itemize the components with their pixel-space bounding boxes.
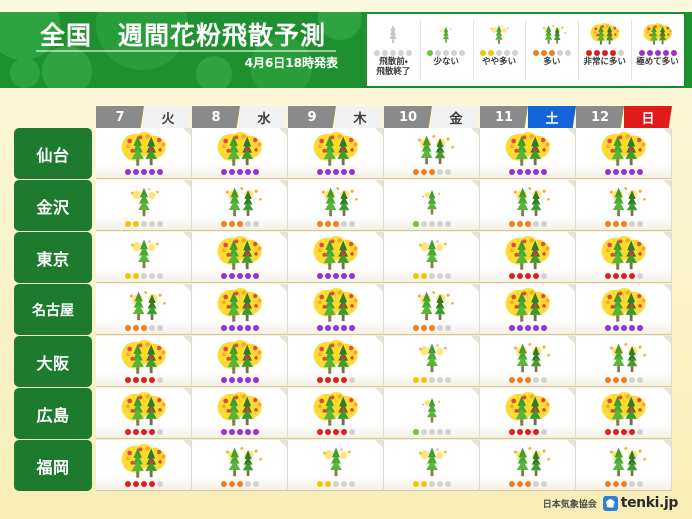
forecast-level-dots bbox=[221, 325, 259, 331]
pollen-art bbox=[288, 390, 383, 426]
pollen-tree-art-level-5 bbox=[635, 20, 681, 48]
forecast-level-dots bbox=[221, 221, 259, 227]
forecast-cell[interactable] bbox=[96, 232, 192, 283]
level-dot bbox=[317, 169, 323, 175]
level-dot bbox=[437, 481, 443, 487]
level-dot bbox=[253, 273, 259, 279]
row-cells bbox=[96, 128, 678, 179]
forecast-cell[interactable] bbox=[576, 232, 672, 283]
level-dot bbox=[610, 50, 616, 56]
pollen-art bbox=[288, 286, 383, 322]
legend-label: 少ない bbox=[433, 58, 459, 68]
day-header-11: 11土 bbox=[480, 106, 576, 128]
legend-item-5: 極めて多い bbox=[631, 14, 684, 86]
row-cells bbox=[96, 388, 678, 439]
legend-art bbox=[476, 18, 522, 48]
legend-item-2: やや多い bbox=[473, 14, 526, 86]
pollen-art bbox=[384, 286, 479, 322]
level-dot bbox=[133, 221, 139, 227]
level-dot bbox=[621, 169, 627, 175]
forecast-level-dots bbox=[125, 481, 163, 487]
pollen-art bbox=[480, 286, 575, 322]
legend-level-dots bbox=[374, 50, 412, 56]
level-dot bbox=[621, 221, 627, 227]
level-dot bbox=[445, 221, 451, 227]
level-dot bbox=[317, 377, 323, 383]
forecast-level-dots bbox=[125, 325, 163, 331]
pollen-art bbox=[480, 338, 575, 374]
pollen-art bbox=[192, 390, 287, 426]
level-dot bbox=[141, 377, 147, 383]
level-dot bbox=[157, 429, 163, 435]
day-header-10: 10金 bbox=[384, 106, 480, 128]
level-dot bbox=[637, 221, 643, 227]
forecast-cell[interactable] bbox=[96, 388, 192, 439]
level-dot bbox=[229, 481, 235, 487]
forecast-level-dots bbox=[605, 169, 643, 175]
forecast-cell[interactable] bbox=[192, 180, 288, 231]
level-dot bbox=[629, 377, 635, 383]
forecast-cell[interactable] bbox=[96, 128, 192, 179]
level-dot bbox=[141, 169, 147, 175]
level-dot bbox=[237, 377, 243, 383]
level-dot bbox=[141, 221, 147, 227]
level-dot bbox=[349, 273, 355, 279]
level-dot bbox=[237, 429, 243, 435]
row-cells bbox=[96, 440, 678, 491]
level-dot bbox=[221, 221, 227, 227]
legend-dots bbox=[480, 50, 518, 56]
forecast-cell[interactable] bbox=[576, 440, 672, 491]
pollen-tree-art-level-2 bbox=[108, 236, 180, 270]
pollen-art bbox=[576, 286, 671, 322]
level-dot bbox=[629, 169, 635, 175]
legend-art bbox=[529, 18, 575, 48]
forecast-level-dots bbox=[221, 169, 259, 175]
level-dot bbox=[253, 221, 259, 227]
level-dot bbox=[541, 273, 547, 279]
pollen-forecast-page: 全国 週間花粉飛散予測 4月6日18時発表 飛散前・ 飛散終了少ないやや多い多い… bbox=[0, 0, 692, 519]
level-dot bbox=[488, 50, 494, 56]
pollen-tree-art-level-5 bbox=[108, 132, 180, 166]
forecast-level-dots bbox=[125, 221, 163, 227]
level-dot bbox=[221, 169, 227, 175]
pollen-art bbox=[576, 390, 671, 426]
pollen-tree-art-level-3 bbox=[588, 444, 660, 478]
level-dot bbox=[413, 429, 419, 435]
level-dot bbox=[125, 169, 131, 175]
level-dot bbox=[141, 325, 147, 331]
legend-dots bbox=[427, 50, 465, 56]
level-dot bbox=[637, 325, 643, 331]
level-dot bbox=[594, 50, 600, 56]
level-dot bbox=[349, 221, 355, 227]
level-dot bbox=[149, 377, 155, 383]
forecast-cell[interactable] bbox=[192, 440, 288, 491]
pollen-tree-art-level-5 bbox=[588, 288, 660, 322]
forecast-cell[interactable] bbox=[192, 284, 288, 335]
level-dot bbox=[613, 221, 619, 227]
pollen-art bbox=[480, 182, 575, 218]
level-dot bbox=[427, 50, 433, 56]
forecast-cell[interactable] bbox=[192, 232, 288, 283]
pollen-tree-art-level-3 bbox=[492, 340, 564, 374]
level-dot bbox=[629, 273, 635, 279]
forecast-level-dots bbox=[221, 377, 259, 383]
level-dot bbox=[317, 481, 323, 487]
level-dot bbox=[325, 273, 331, 279]
table-row: 大阪 bbox=[14, 336, 678, 387]
day-weekday: 水 bbox=[240, 106, 288, 128]
level-dot bbox=[333, 377, 339, 383]
level-dot bbox=[437, 325, 443, 331]
level-dot bbox=[421, 377, 427, 383]
forecast-level-dots bbox=[125, 377, 163, 383]
level-dot bbox=[341, 481, 347, 487]
level-dot bbox=[525, 273, 531, 279]
forecast-cell[interactable] bbox=[288, 180, 384, 231]
pollen-art bbox=[192, 234, 287, 270]
level-dot bbox=[671, 50, 677, 56]
level-dot bbox=[437, 273, 443, 279]
pollen-tree-art-level-3 bbox=[204, 444, 276, 478]
level-dot bbox=[533, 221, 539, 227]
forecast-cell[interactable] bbox=[576, 388, 672, 439]
forecast-cell[interactable] bbox=[384, 440, 480, 491]
level-dot bbox=[237, 169, 243, 175]
level-dot bbox=[586, 50, 592, 56]
city-label-広島[interactable]: 広島 bbox=[14, 388, 92, 439]
day-weekday: 土 bbox=[528, 106, 576, 128]
legend-label: 飛散前・ 飛散終了 bbox=[376, 58, 410, 78]
forecast-cell[interactable] bbox=[96, 180, 192, 231]
forecast-cell[interactable] bbox=[288, 388, 384, 439]
level-dot bbox=[141, 273, 147, 279]
day-weekday: 木 bbox=[336, 106, 384, 128]
level-dot bbox=[141, 429, 147, 435]
legend-dots bbox=[533, 50, 571, 56]
level-dot bbox=[413, 481, 419, 487]
level-dot bbox=[525, 377, 531, 383]
pollen-tree-art-level-4 bbox=[588, 392, 660, 426]
pollen-tree-art-level-4 bbox=[588, 236, 660, 270]
pollen-tree-art-level-2 bbox=[476, 20, 522, 48]
forecast-level-dots bbox=[221, 273, 259, 279]
level-dot bbox=[435, 50, 441, 56]
forecast-cell[interactable] bbox=[288, 440, 384, 491]
level-dot bbox=[637, 429, 643, 435]
level-dot bbox=[445, 273, 451, 279]
level-dot bbox=[637, 169, 643, 175]
pollen-tree-art-level-5 bbox=[300, 288, 372, 322]
pollen-tree-art-level-5 bbox=[204, 132, 276, 166]
page-title: 全国 週間花粉飛散予測 bbox=[40, 16, 326, 52]
forecast-cell[interactable] bbox=[288, 284, 384, 335]
forecast-level-dots bbox=[509, 169, 547, 175]
level-dot bbox=[504, 50, 510, 56]
pollen-tree-art-level-3 bbox=[492, 184, 564, 218]
forecast-cell[interactable] bbox=[288, 336, 384, 387]
level-dot bbox=[445, 481, 451, 487]
level-dot bbox=[621, 377, 627, 383]
level-dot bbox=[253, 429, 259, 435]
level-dot bbox=[413, 325, 419, 331]
level-dot bbox=[229, 221, 235, 227]
level-dot bbox=[517, 377, 523, 383]
level-dot bbox=[149, 429, 155, 435]
level-dot bbox=[245, 169, 251, 175]
level-dot bbox=[149, 221, 155, 227]
pollen-art bbox=[192, 286, 287, 322]
level-dot bbox=[663, 50, 669, 56]
legend-art bbox=[635, 18, 681, 48]
legend-label: やや多い bbox=[482, 58, 516, 68]
level-dot bbox=[647, 50, 653, 56]
level-dot bbox=[429, 481, 435, 487]
level-dot bbox=[157, 273, 163, 279]
pollen-tree-art-level-4 bbox=[108, 392, 180, 426]
city-label-大阪[interactable]: 大阪 bbox=[14, 336, 92, 387]
level-dot bbox=[605, 429, 611, 435]
forecast-rows: 仙台金沢東京名古屋大阪広島福岡 bbox=[14, 128, 678, 491]
level-dot bbox=[613, 429, 619, 435]
day-header-9: 9木 bbox=[288, 106, 384, 128]
forecast-cell[interactable] bbox=[480, 284, 576, 335]
forecast-level-dots bbox=[413, 221, 451, 227]
level-dot bbox=[541, 377, 547, 383]
level-dot bbox=[341, 325, 347, 331]
level-dot bbox=[509, 169, 515, 175]
pollen-tree-art-level-2 bbox=[396, 236, 468, 270]
level-dot bbox=[133, 429, 139, 435]
level-dot bbox=[525, 325, 531, 331]
pollen-art bbox=[480, 234, 575, 270]
level-dot bbox=[325, 429, 331, 435]
forecast-cell[interactable] bbox=[384, 232, 480, 283]
level-dot bbox=[229, 273, 235, 279]
forecast-cell[interactable] bbox=[576, 284, 672, 335]
level-dot bbox=[413, 273, 419, 279]
city-label-福岡[interactable]: 福岡 bbox=[14, 440, 92, 491]
level-dot bbox=[125, 273, 131, 279]
level-dot bbox=[445, 377, 451, 383]
level-dot bbox=[525, 169, 531, 175]
pollen-tree-art-level-2 bbox=[300, 444, 372, 478]
level-dot bbox=[517, 221, 523, 227]
level-dot bbox=[557, 50, 563, 56]
level-dot bbox=[655, 50, 661, 56]
level-dot bbox=[325, 377, 331, 383]
forecast-level-dots bbox=[317, 273, 355, 279]
level-dot bbox=[541, 325, 547, 331]
forecast-cell[interactable] bbox=[384, 336, 480, 387]
pollen-tree-art-level-5 bbox=[588, 132, 660, 166]
level-dot bbox=[390, 50, 396, 56]
forecast-cell[interactable] bbox=[480, 336, 576, 387]
forecast-cell[interactable] bbox=[576, 128, 672, 179]
level-dot bbox=[517, 481, 523, 487]
level-dot bbox=[221, 325, 227, 331]
forecast-level-dots bbox=[605, 273, 643, 279]
forecast-cell[interactable] bbox=[288, 232, 384, 283]
level-dot bbox=[496, 50, 502, 56]
level-dot bbox=[221, 429, 227, 435]
table-row: 金沢 bbox=[14, 180, 678, 231]
level-dot bbox=[605, 325, 611, 331]
city-label-東京[interactable]: 東京 bbox=[14, 232, 92, 283]
pollen-art bbox=[288, 338, 383, 374]
forecast-cell[interactable] bbox=[96, 336, 192, 387]
pollen-art bbox=[384, 130, 479, 166]
pollen-tree-art-level-5 bbox=[204, 288, 276, 322]
pollen-tree-art-level-3 bbox=[204, 184, 276, 218]
forecast-cell[interactable] bbox=[576, 336, 672, 387]
level-dot bbox=[509, 221, 515, 227]
level-dot bbox=[565, 50, 571, 56]
level-dot bbox=[157, 221, 163, 227]
forecast-level-dots bbox=[605, 325, 643, 331]
forecast-level-dots bbox=[413, 377, 451, 383]
forecast-cell[interactable] bbox=[384, 388, 480, 439]
legend: 飛散前・ 飛散終了少ないやや多い多い非常に多い極めて多い bbox=[362, 14, 684, 86]
forecast-cell[interactable] bbox=[288, 128, 384, 179]
city-label-仙台[interactable]: 仙台 bbox=[14, 128, 92, 179]
row-cells bbox=[96, 336, 678, 387]
forecast-cell[interactable] bbox=[192, 336, 288, 387]
forecast-level-dots bbox=[125, 429, 163, 435]
issued-timestamp: 4月6日18時発表 bbox=[36, 54, 338, 71]
city-label-金沢[interactable]: 金沢 bbox=[14, 180, 92, 231]
level-dot bbox=[525, 221, 531, 227]
level-dot bbox=[341, 221, 347, 227]
pollen-art bbox=[96, 234, 191, 270]
level-dot bbox=[125, 325, 131, 331]
table-row: 広島 bbox=[14, 388, 678, 439]
level-dot bbox=[245, 273, 251, 279]
level-dot bbox=[253, 377, 259, 383]
level-dot bbox=[398, 50, 404, 56]
level-dot bbox=[333, 325, 339, 331]
level-dot bbox=[525, 481, 531, 487]
pollen-art bbox=[576, 234, 671, 270]
pollen-art bbox=[96, 390, 191, 426]
pollen-art bbox=[384, 182, 479, 218]
level-dot bbox=[245, 429, 251, 435]
legend-item-1: 少ない bbox=[420, 14, 473, 86]
level-dot bbox=[229, 429, 235, 435]
level-dot bbox=[245, 221, 251, 227]
pollen-art bbox=[192, 182, 287, 218]
pollen-art bbox=[96, 338, 191, 374]
level-dot bbox=[437, 429, 443, 435]
pollen-tree-art-level-1 bbox=[396, 184, 468, 218]
pollen-tree-art-level-5 bbox=[492, 132, 564, 166]
level-dot bbox=[229, 169, 235, 175]
level-dot bbox=[125, 221, 131, 227]
level-dot bbox=[509, 325, 515, 331]
level-dot bbox=[221, 481, 227, 487]
pollen-tree-art-level-3 bbox=[492, 444, 564, 478]
level-dot bbox=[533, 377, 539, 383]
level-dot bbox=[245, 481, 251, 487]
level-dot bbox=[533, 169, 539, 175]
level-dot bbox=[341, 377, 347, 383]
tenki-logo[interactable]: tenki.jp bbox=[603, 495, 678, 511]
level-dot bbox=[429, 169, 435, 175]
legend-item-4: 非常に多い bbox=[578, 14, 631, 86]
forecast-cell[interactable] bbox=[96, 440, 192, 491]
level-dot bbox=[149, 325, 155, 331]
level-dot bbox=[157, 325, 163, 331]
forecast-cell[interactable] bbox=[480, 232, 576, 283]
level-dot bbox=[429, 325, 435, 331]
forecast-cell[interactable] bbox=[384, 284, 480, 335]
forecast-cell[interactable] bbox=[576, 180, 672, 231]
level-dot bbox=[605, 481, 611, 487]
forecast-level-dots bbox=[413, 325, 451, 331]
level-dot bbox=[602, 50, 608, 56]
row-cells bbox=[96, 180, 678, 231]
forecast-level-dots bbox=[605, 221, 643, 227]
forecast-cell[interactable] bbox=[480, 128, 576, 179]
level-dot bbox=[549, 50, 555, 56]
level-dot bbox=[253, 169, 259, 175]
footer: 日本気象協会 tenki.jp bbox=[543, 495, 678, 511]
level-dot bbox=[141, 481, 147, 487]
city-label-名古屋[interactable]: 名古屋 bbox=[14, 284, 92, 335]
level-dot bbox=[221, 377, 227, 383]
forecast-cell[interactable] bbox=[96, 284, 192, 335]
level-dot bbox=[325, 481, 331, 487]
level-dot bbox=[221, 273, 227, 279]
level-dot bbox=[629, 481, 635, 487]
level-dot bbox=[525, 429, 531, 435]
level-dot bbox=[133, 169, 139, 175]
level-dot bbox=[333, 221, 339, 227]
level-dot bbox=[325, 325, 331, 331]
pollen-art bbox=[288, 442, 383, 478]
day-header-row: 7火8水9木10金11土12日 bbox=[96, 106, 678, 128]
level-dot bbox=[541, 221, 547, 227]
forecast-cell[interactable] bbox=[480, 180, 576, 231]
level-dot bbox=[445, 429, 451, 435]
forecast-level-dots bbox=[221, 429, 259, 435]
pollen-tree-art-level-4 bbox=[582, 20, 628, 48]
legend-level-dots bbox=[533, 50, 571, 56]
pollen-art bbox=[384, 234, 479, 270]
level-dot bbox=[237, 221, 243, 227]
pollen-tree-art-level-3 bbox=[396, 132, 468, 166]
level-dot bbox=[639, 50, 645, 56]
legend-dots bbox=[374, 50, 412, 56]
forecast-level-dots bbox=[413, 169, 451, 175]
forecast-cell[interactable] bbox=[480, 440, 576, 491]
level-dot bbox=[253, 481, 259, 487]
forecast-cell[interactable] bbox=[480, 388, 576, 439]
pollen-art bbox=[576, 182, 671, 218]
forecast-cell[interactable] bbox=[384, 128, 480, 179]
level-dot bbox=[157, 169, 163, 175]
forecast-level-dots bbox=[509, 377, 547, 383]
forecast-cell[interactable] bbox=[192, 128, 288, 179]
level-dot bbox=[421, 221, 427, 227]
forecast-level-dots bbox=[125, 169, 163, 175]
forecast-cell[interactable] bbox=[192, 388, 288, 439]
pollen-tree-art-level-3 bbox=[588, 184, 660, 218]
pollen-tree-art-level-3 bbox=[588, 340, 660, 374]
forecast-cell[interactable] bbox=[384, 180, 480, 231]
level-dot bbox=[333, 429, 339, 435]
